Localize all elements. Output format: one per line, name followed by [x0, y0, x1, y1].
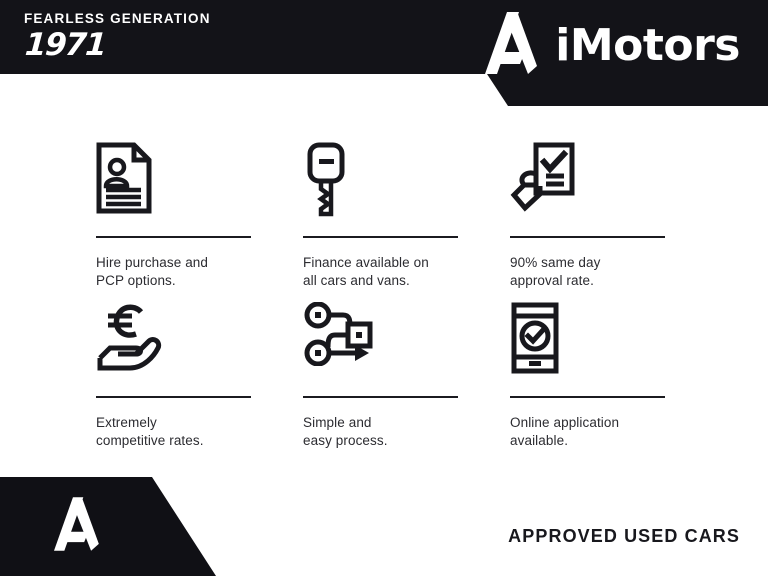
- feature-item: Hire purchase and PCP options.: [96, 140, 303, 300]
- feature-item: Simple and easy process.: [303, 300, 510, 460]
- feature-label: 90% same day approval rate.: [510, 254, 717, 290]
- fearless-generation-title: FEARLESS GENERATION: [24, 12, 211, 26]
- feature-divider: [510, 236, 665, 238]
- imotors-chevron-logo-icon: [54, 495, 104, 558]
- features-grid: Hire purchase and PCP options. Finance a…: [96, 140, 696, 460]
- hand-holding-euro-icon: [96, 300, 303, 388]
- feature-divider: [303, 236, 458, 238]
- document-person-icon: [96, 140, 303, 228]
- hand-holding-checklist-icon: [510, 140, 717, 228]
- footer-background: [0, 477, 220, 576]
- feature-label: Hire purchase and PCP options.: [96, 254, 303, 290]
- promo-banner: FEARLESS GENERATION 1971 iMotors: [0, 0, 768, 576]
- feature-item: Finance available on all cars and vans.: [303, 140, 510, 300]
- feature-item: Extremely competitive rates.: [96, 300, 303, 460]
- feature-item: 90% same day approval rate.: [510, 140, 717, 300]
- imotors-chevron-logo-icon: [485, 12, 543, 79]
- brand-lockup: iMotors: [485, 12, 740, 79]
- car-key-icon: [303, 140, 510, 228]
- feature-item: Online application available.: [510, 300, 717, 460]
- brand-name: iMotors: [555, 24, 740, 68]
- fearless-generation-lockup: FEARLESS GENERATION 1971: [24, 12, 211, 61]
- feature-divider: [96, 236, 251, 238]
- smartphone-check-icon: [510, 300, 717, 388]
- feature-label: Finance available on all cars and vans.: [303, 254, 510, 290]
- feature-label: Extremely competitive rates.: [96, 414, 303, 450]
- feature-label: Online application available.: [510, 414, 717, 450]
- footer-tagline: APPROVED USED CARS: [508, 527, 740, 545]
- fearless-generation-year: 1971: [24, 30, 213, 61]
- process-flow-icon: [303, 300, 510, 388]
- feature-label: Simple and easy process.: [303, 414, 510, 450]
- feature-divider: [96, 396, 251, 398]
- feature-divider: [510, 396, 665, 398]
- feature-divider: [303, 396, 458, 398]
